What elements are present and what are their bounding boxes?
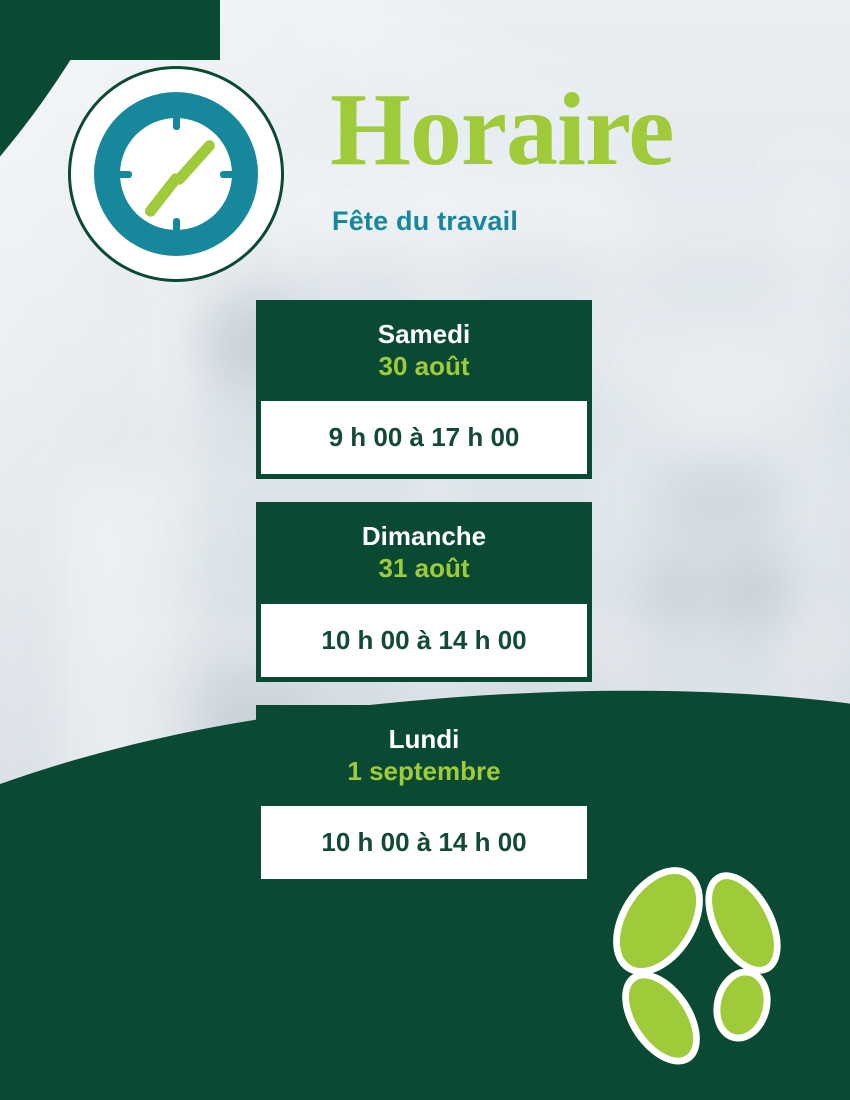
page-subtitle: Fête du travail bbox=[332, 206, 518, 237]
schedule-card-header: Dimanche 31 août bbox=[256, 502, 592, 600]
schedule-card-hours: 10 h 00 à 14 h 00 bbox=[258, 803, 590, 882]
schedule-card-hours-wrap: 9 h 00 à 17 h 00 bbox=[256, 398, 592, 479]
page-title: Horaire bbox=[330, 78, 673, 182]
clock-icon bbox=[68, 66, 284, 282]
schedule-card-hours: 10 h 00 à 14 h 00 bbox=[258, 601, 590, 680]
horaire-poster: Horaire Fête du travail Samedi 30 août 9… bbox=[0, 0, 850, 1100]
schedule-card-date: 31 août bbox=[266, 552, 582, 585]
clock-tick-3 bbox=[220, 171, 236, 178]
schedule-card-header: Samedi 30 août bbox=[256, 300, 592, 398]
schedule-card-date: 30 août bbox=[266, 350, 582, 383]
schedule-card-hours: 9 h 00 à 17 h 00 bbox=[258, 398, 590, 477]
schedule-card: Samedi 30 août 9 h 00 à 17 h 00 bbox=[256, 300, 592, 479]
schedule-card-header: Lundi 1 septembre bbox=[256, 705, 592, 803]
clock-tick-9 bbox=[116, 171, 132, 178]
schedule-card: Lundi 1 septembre 10 h 00 à 14 h 00 bbox=[256, 705, 592, 884]
green-shape-top-left-fill bbox=[0, 0, 220, 60]
butterfly-petal-top-left bbox=[595, 851, 722, 991]
schedule-card-date: 1 septembre bbox=[266, 755, 582, 788]
schedule-card-day: Lundi bbox=[266, 725, 582, 755]
schedule-card: Dimanche 31 août 10 h 00 à 14 h 00 bbox=[256, 502, 592, 681]
schedule-card-day: Dimanche bbox=[266, 522, 582, 552]
butterfly-petal-top-right bbox=[690, 860, 796, 986]
schedule-card-list: Samedi 30 août 9 h 00 à 17 h 00 Dimanche… bbox=[256, 300, 592, 907]
clock-tick-6 bbox=[173, 218, 180, 234]
clock-tick-12 bbox=[173, 114, 180, 130]
schedule-card-day: Samedi bbox=[266, 320, 582, 350]
schedule-card-hours-wrap: 10 h 00 à 14 h 00 bbox=[256, 803, 592, 884]
butterfly-logo bbox=[612, 856, 812, 1056]
butterfly-petal-bottom-right bbox=[706, 962, 778, 1047]
schedule-card-hours-wrap: 10 h 00 à 14 h 00 bbox=[256, 601, 592, 682]
